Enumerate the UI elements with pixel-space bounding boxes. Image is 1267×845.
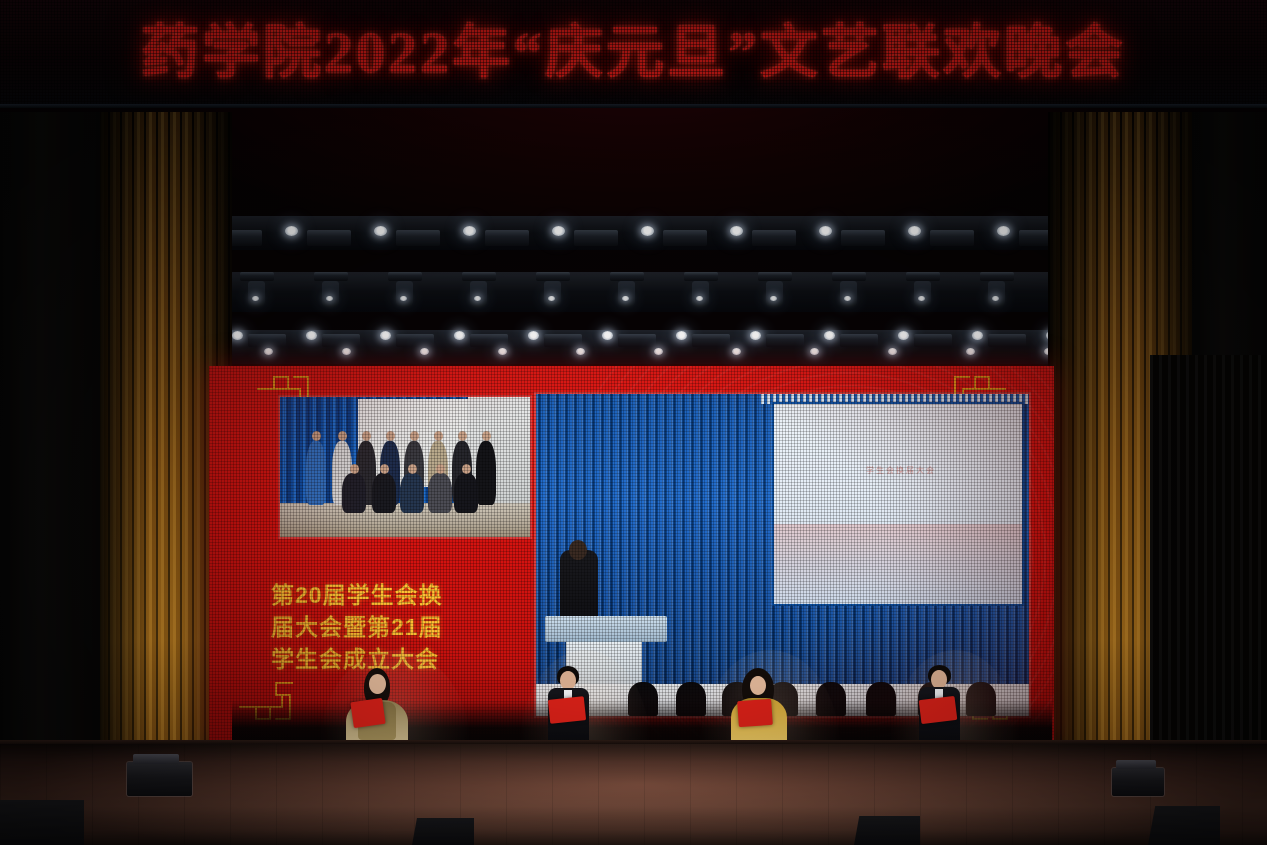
group-photo-person [454,473,478,513]
group-photo-person [428,473,452,513]
light-fixture [248,334,286,347]
group-photo-person-head [462,464,471,474]
light-fixture [758,272,792,281]
light-fixture [840,334,878,347]
stage-lamp [972,331,983,340]
light-fixture [610,272,644,281]
host-2-script-folder [548,696,586,724]
stage-lamp [824,331,835,340]
flight-case-left-lid [133,754,179,764]
stage-lamp [654,348,663,355]
stage-lamp [420,348,429,355]
light-fixture [766,334,804,347]
group-photo-person-head [362,431,371,441]
light-fixture [618,281,635,307]
light-fixture [248,281,265,307]
podium-speech-photo: 学生会换届大会 [536,394,1029,716]
event-title-banner: 药学院2022年“庆元旦”文艺联欢晚会 [0,22,1267,84]
flight-case-right [1112,768,1164,796]
projection-screen-text: 学生会换届大会 [796,464,1006,477]
group-photo [280,397,530,537]
group-photo-person [342,473,366,513]
group-photo-person-head [458,431,467,441]
light-fixture [752,230,796,246]
host-3-script-folder [737,699,773,727]
led-wall-caption: 第20届学生会换 届大会暨第21届 学生会成立大会 [271,579,521,675]
stage-lamp [602,331,613,340]
group-photo-person-head [408,464,417,474]
group-photo-person-head [482,431,491,441]
group-photo-person [306,441,326,505]
light-fixture [485,230,529,246]
led-banner-strip: 药学院2022年“庆元旦”文艺联欢晚会 [0,0,1267,108]
stage-lamp [342,348,351,355]
stage-lamp [750,331,761,340]
flight-case-right-lid [1116,760,1156,769]
speech-photo-podium-top [545,616,667,642]
stage-monitor-left [412,818,474,845]
speech-photo-projection-screen: 学生会换届大会 [774,404,1022,604]
light-fixture [914,334,952,347]
black-curtain-far-right [1150,355,1267,785]
caption-line-3: 学生会成立大会 [271,643,521,675]
light-fixture [618,334,656,347]
stage-lamp [306,331,317,340]
light-fixture [396,230,440,246]
projection-screen-artwork [774,524,1022,604]
stage-monitor-right [854,816,920,845]
light-fixture [396,281,413,307]
caption-line-1: 第20届学生会换 [271,579,521,611]
light-fixture [462,272,496,281]
speech-photo-speaker-body [560,550,598,620]
group-photo-person [372,473,396,513]
stage-lamp [232,331,243,340]
group-photo-person-head [350,464,359,474]
host-4-script-folder [919,696,958,724]
group-photo-person-head [312,431,321,441]
masking-leg-left [0,112,100,845]
light-fixture [544,334,582,347]
speech-photo-speaker-head [569,540,587,560]
group-photo-person-head [434,431,443,441]
stage-lamp [264,348,273,355]
stage-lamp [810,348,819,355]
stage-lamp [454,331,465,340]
stage-lamp [966,348,975,355]
light-fixture [663,230,707,246]
group-photo-person-head [410,431,419,441]
light-fixture [988,334,1026,347]
light-fixture [692,281,709,307]
caption-line-2: 届大会暨第21届 [271,611,521,643]
light-fixture [684,272,718,281]
light-fixture [906,272,940,281]
light-fixture [914,281,931,307]
stage-lamp [380,331,391,340]
light-fixture [544,281,561,307]
speech-photo-curtain-valance [761,394,1029,404]
light-fixture [832,272,866,281]
stage-lamp [528,331,539,340]
light-fixture [388,272,422,281]
light-fixture [980,272,1014,281]
light-fixture [322,334,360,347]
light-fixture [470,334,508,347]
stage-monitor-far-right [1148,806,1220,845]
light-fixture [470,281,487,307]
group-photo-person-head [338,431,347,441]
light-fixture [840,281,857,307]
stage-lamp [898,331,909,340]
flight-case-left [127,762,192,796]
group-photo-person-head [380,464,389,474]
light-fixture [930,230,974,246]
light-fixture [574,230,618,246]
light-fixture [988,281,1005,307]
speech-photo-podium-base [566,642,642,690]
stage-lamp [732,348,741,355]
light-fixture [841,230,885,246]
light-fixture [692,334,730,347]
light-fixture [322,281,339,307]
stage-monitor-far-left [0,800,84,845]
light-fixture [766,281,783,307]
light-fixture [536,272,570,281]
stage-lamp [888,348,897,355]
stage-lamp [576,348,585,355]
light-fixture [314,272,348,281]
group-photo-person [476,441,496,505]
light-fixture [396,334,434,347]
host-1-script-folder [350,698,385,728]
group-photo-person [400,473,424,513]
light-fixture [307,230,351,246]
stage-lamp [498,348,507,355]
stage-lamp [676,331,687,340]
group-photo-person-head [436,464,445,474]
stage-photograph: 药学院2022年“庆元旦”文艺联欢晚会 [0,0,1267,845]
light-fixture [240,272,274,281]
group-photo-person-head [386,431,395,441]
